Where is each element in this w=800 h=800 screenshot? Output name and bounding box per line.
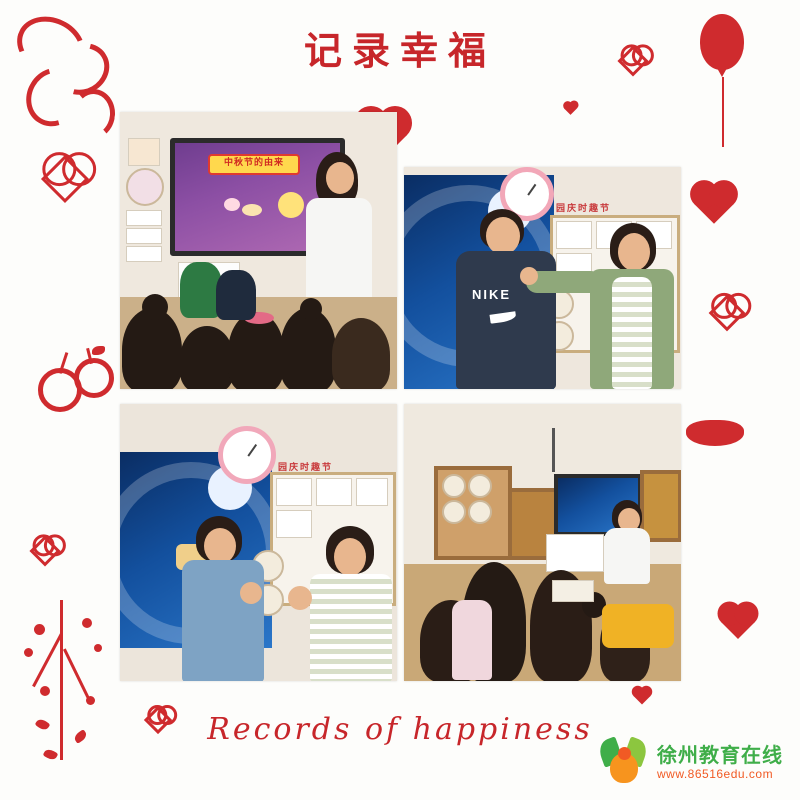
teacher-hand-heart — [288, 586, 312, 610]
photo-bottom-right — [404, 404, 681, 681]
teacher-figure — [310, 574, 392, 681]
photo-top-right: 园庆时趣节 NIKE — [404, 167, 681, 389]
watermark-name: 徐州教育在线 — [657, 744, 783, 766]
wall-clock — [218, 426, 276, 484]
poster-canvas: 记录幸福 中秋节的由来 — [0, 0, 800, 800]
heart-outline-doodle-left — [41, 155, 89, 203]
watermark-url: www.86516edu.com — [657, 768, 783, 781]
heart-doodle-bottom-right — [634, 688, 651, 705]
photo-top-left: 中秋节的由来 — [120, 112, 397, 389]
heart-outline-doodle-left-lower — [29, 535, 60, 566]
nike-wordmark: NIKE — [472, 287, 511, 302]
logo-icon — [598, 737, 650, 789]
girl-hand-heart — [240, 582, 262, 604]
heart-doodle-right-lower — [721, 605, 755, 639]
heart-outline-doodle-right-mid — [709, 295, 746, 332]
lips-doodle — [686, 420, 744, 446]
teacher-figure — [306, 198, 372, 302]
smartboard-title-banner: 中秋节的由来 — [208, 154, 300, 175]
watermark-logo: 徐州教育在线 www.86516edu.com — [598, 735, 794, 791]
girl-figure — [182, 560, 264, 681]
heart-doodle-right-upper — [694, 184, 734, 224]
photo-bottom-left: 园庆时趣节 — [120, 404, 397, 681]
wall-banner-text: 园庆时趣节 — [556, 201, 611, 214]
page-title-chinese: 记录幸福 — [0, 20, 800, 75]
heart-doodle-top-right-small — [564, 102, 577, 115]
